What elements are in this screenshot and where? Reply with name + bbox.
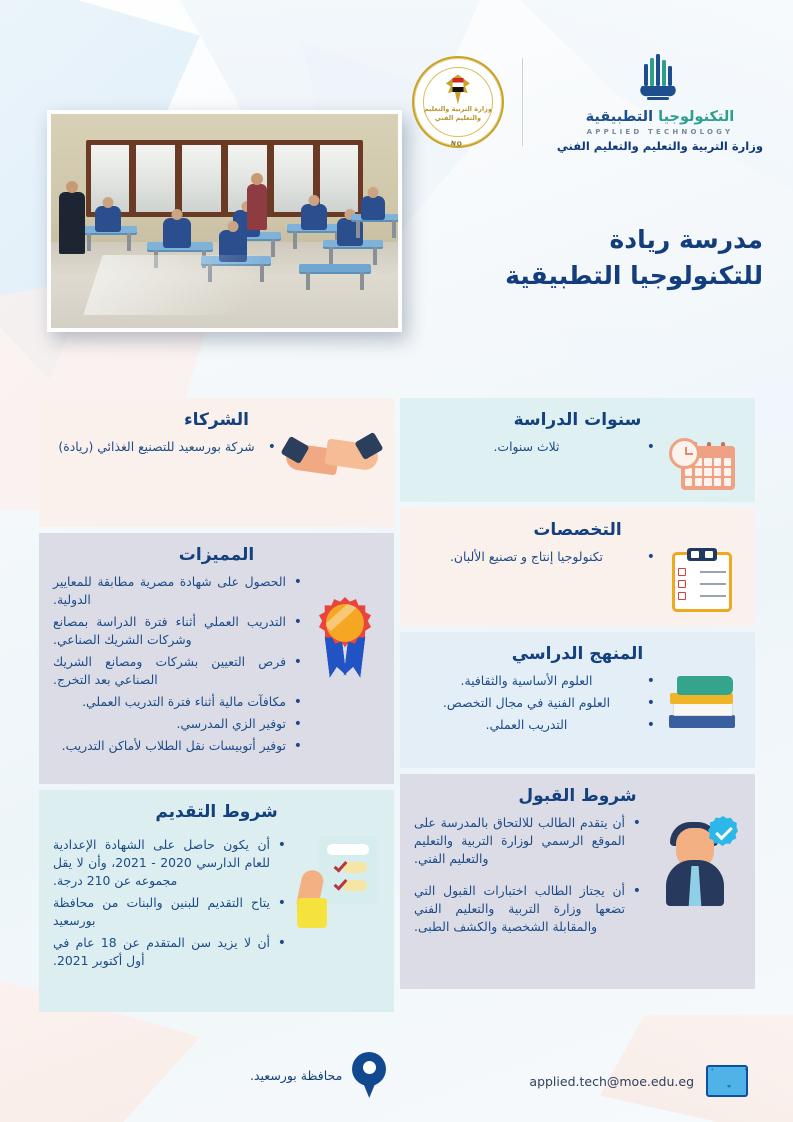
footer-location: محافظة بورسعيد. (250, 1052, 386, 1098)
card-admission-conditions: شروط القبول أن يتقدم الطالب للالتحاق بال… (400, 774, 755, 989)
footer: محافظة بورسعيد. applied.tech@moe.edu.eg (0, 1022, 793, 1122)
handshake-icon (284, 438, 380, 494)
logo-arabic-name: التكنولوجيا التطبيقية (557, 110, 763, 126)
card-title-years: سنوات الدراسة (414, 410, 741, 430)
hand-checklist-icon (294, 836, 380, 928)
clipboard-checklist-icon (663, 548, 741, 612)
list-item: شركة بورسعيد للتصنيع الغذائي (ريادة) (53, 438, 276, 456)
info-card-grid: سنوات الدراسة ثلاث سنوات. (38, 398, 755, 1012)
classroom-photo (47, 110, 402, 332)
card-years-of-study: سنوات الدراسة ثلاث سنوات. (400, 398, 755, 502)
title-line-2: للتكنولوجيا التطبيقية (505, 258, 763, 294)
card-title-features: المميزات (53, 545, 380, 565)
column-left: الشركاء شركة بورسعيد للتصنيع الغذائي (ري… (39, 398, 394, 1012)
card-list-specializations: تكنولوجيا إنتاج و تصنيع الألبان. (414, 548, 655, 566)
verified-student-icon (649, 814, 741, 906)
title-line-1: مدرسة ريادة (505, 222, 763, 258)
card-title-curriculum: المنهج الدراسي (414, 644, 741, 664)
flag-shield-icon (452, 78, 463, 92)
logo-word-technology: التكنولوجيا (658, 109, 734, 125)
list-item: ثلاث سنوات. (414, 438, 655, 456)
envelope-icon[interactable] (706, 1065, 748, 1097)
card-title-application: شروط التقديم (53, 802, 380, 822)
medal-ribbon-icon (310, 573, 380, 677)
emblem-arabic-line2: والتعليم الفني (414, 114, 502, 123)
card-title-specializations: التخصصات (414, 520, 741, 540)
card-features: المميزات الحصول على شهادة مصرية مطابقة ل… (39, 533, 394, 784)
handprint-logo-icon (634, 52, 686, 104)
card-list-curriculum: العلوم الأساسية والثقافية. العلوم الفنية… (414, 672, 655, 734)
footer-email[interactable]: applied.tech@moe.edu.eg (529, 1065, 748, 1097)
list-item: الحصول على شهادة مصرية مطابقة للمعايير ا… (53, 573, 302, 609)
map-pin-icon (352, 1052, 386, 1098)
list-item: أن لا يزيد سن المتقدم عن 18 عام في أول أ… (53, 934, 286, 970)
ministry-emblem-icon: MINISTRY OF EDUCATION AND TECHNICAL EDUC… (412, 56, 504, 148)
list-item: أن يتقدم الطالب للالتحاق بالمدرسة على ال… (414, 814, 641, 868)
card-list-partners: شركة بورسعيد للتصنيع الغذائي (ريادة) (53, 438, 276, 456)
list-item: العلوم الفنية في مجال التخصص. (414, 694, 655, 712)
ministry-name-label: وزارة التربية والتعليم والتعليم الفني (557, 139, 763, 153)
page-title: مدرسة ريادة للتكنولوجيا التطبيقية (505, 222, 763, 295)
list-item: مكافآت مالية أثناء فترة التدريب العملي. (53, 693, 302, 711)
infographic-page: التكنولوجيا التطبيقية APPLIED TECHNOLOGY… (0, 0, 793, 1122)
card-specializations: التخصصات تكنولوجيا إنتاج و تصنيع الألبان… (400, 508, 755, 626)
card-title-partners: الشركاء (53, 410, 380, 430)
column-right: سنوات الدراسة ثلاث سنوات. (400, 398, 755, 1012)
list-item: توفير أتوبيسات نقل الطلاب لأماكن التدريب… (53, 737, 302, 755)
logo-divider (522, 58, 523, 146)
list-item: توفير الزي المدرسي. (53, 715, 302, 733)
card-partners: الشركاء شركة بورسعيد للتصنيع الغذائي (ري… (39, 398, 394, 527)
footer-email-text[interactable]: applied.tech@moe.edu.eg (529, 1074, 694, 1089)
logo-word-applied: التطبيقية (586, 109, 653, 125)
emblem-arabic-text: وزارة التربية والتعليم والتعليم الفني (414, 105, 502, 123)
card-title-admission: شروط القبول (414, 786, 741, 806)
books-stack-icon (663, 672, 741, 728)
list-item: أن يكون حاصل على الشهادة الإعدادية للعام… (53, 836, 286, 890)
card-list-years: ثلاث سنوات. (414, 438, 655, 456)
list-item: فرص التعيين بشركات ومصانع الشريك الصناعي… (53, 653, 302, 689)
list-item: يتاح التقديم للبنين والبنات من محافظة بو… (53, 894, 286, 930)
list-item: تكنولوجيا إنتاج و تصنيع الألبان. (414, 548, 655, 566)
list-item: العلوم الأساسية والثقافية. (414, 672, 655, 690)
applied-technology-logo: التكنولوجيا التطبيقية APPLIED TECHNOLOGY… (541, 52, 763, 153)
footer-location-text: محافظة بورسعيد. (250, 1068, 342, 1083)
header: التكنولوجيا التطبيقية APPLIED TECHNOLOGY… (0, 0, 793, 390)
card-list-features: الحصول على شهادة مصرية مطابقة للمعايير ا… (53, 573, 302, 755)
list-item: أن يجتاز الطالب اختبارات القبول التي تضع… (414, 882, 641, 936)
card-application-conditions: شروط التقديم (39, 790, 394, 1012)
logo-english-name: APPLIED TECHNOLOGY (557, 128, 763, 136)
card-curriculum: المنهج الدراسي العلوم الأساسية والثقافية… (400, 632, 755, 768)
list-item: التدريب العملي أثناء فترة الدراسة بمصانع… (53, 613, 302, 649)
card-list-admission: أن يتقدم الطالب للالتحاق بالمدرسة على ال… (414, 814, 641, 936)
calendar-clock-icon (663, 438, 741, 490)
logo-group: التكنولوجيا التطبيقية APPLIED TECHNOLOGY… (412, 52, 763, 153)
card-list-application: أن يكون حاصل على الشهادة الإعدادية للعام… (53, 836, 286, 970)
emblem-arabic-line1: وزارة التربية والتعليم (414, 105, 502, 114)
list-item: التدريب العملي. (414, 716, 655, 734)
